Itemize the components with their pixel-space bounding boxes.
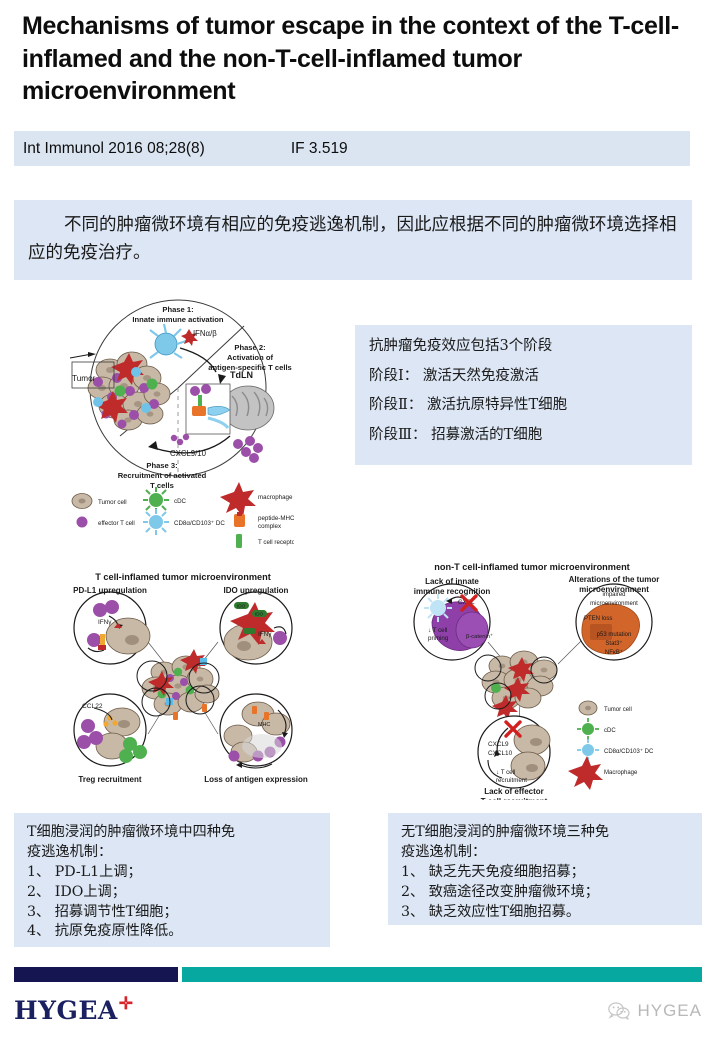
fig-bl-title: T cell-inflamed tumor microenvironment <box>95 572 271 582</box>
wechat-icon <box>608 1002 630 1020</box>
mech-right-line-1: 无T细胞浸润的肿瘤微环境三种免 <box>388 813 702 843</box>
tumor-mass: Tumor <box>70 352 170 430</box>
page-title: Mechanisms of tumor escape in the contex… <box>22 10 698 108</box>
br-legend-cdc: cDC <box>604 728 616 734</box>
phase1-line2: Innate immune activation <box>132 315 224 324</box>
phases-heading: 抗肿瘤免疫效应包括3个阶段 <box>355 325 692 354</box>
antigen-loss-bubble: MHC Loss of antigen expression <box>204 694 308 784</box>
legend-tumor-cell: Tumor cell <box>98 499 127 506</box>
lack-effector-bubble: CXCL9 CXCL10 ↓ T cell recruitment Lack o… <box>478 716 550 800</box>
br-legend-cd8a: CD8α/CD103⁺ DC <box>604 748 654 755</box>
figure-top-legend: Tumor cell effector T cell cDC CD8α/CD10… <box>72 482 294 548</box>
t-recruit-2: recruitment <box>496 777 527 784</box>
pdl1-label: PD-L1 upregulation <box>73 586 147 595</box>
activated-dc: IFNα/β <box>150 324 217 358</box>
central-tumor-mass-br <box>475 651 557 720</box>
catenin-label: β-catenin⁺ <box>466 633 493 640</box>
lack-effector-2: T cell recruitment <box>481 797 548 800</box>
phase2-line1: Phase 2: <box>234 343 265 352</box>
figure-br-legend: Tumor cell cDC CD8α/CD103⁺ DC Macrophage <box>568 701 654 790</box>
phase-item-1: 阶段Ⅰ： 激活天然免疫激活 <box>355 369 692 384</box>
cxcl9-label: CXCL9 <box>488 741 509 748</box>
mech-left-line-4: 2、 IDO上调； <box>14 883 330 903</box>
alterations-2: microenvironment <box>579 585 649 594</box>
ido-tag-1: IDO <box>237 604 246 609</box>
cxcl10-label: CXCL10 <box>488 750 513 757</box>
lack-innate-2: immune recognition <box>414 587 491 596</box>
ido-label: IDO upregulation <box>224 586 289 595</box>
mech-right-line-3: 1、 缺乏先天免疫细胞招募； <box>388 863 702 883</box>
treg-label: Treg recruitment <box>78 775 141 784</box>
phase-item-3: 阶段Ⅲ： 招募激活的T细胞 <box>355 428 692 443</box>
primed-t-cells <box>233 436 263 463</box>
ido-bubble: IDO IDO IFNγ IDO upregulation <box>220 586 292 664</box>
phase2-line2: Activation of <box>227 353 273 362</box>
br-legend-tumor: Tumor cell <box>604 707 632 713</box>
figure-non-t-cell-inflamed: non-T cell-inflamed tumor microenvironme… <box>392 556 688 800</box>
impact-factor: IF 3.519 <box>291 140 348 158</box>
p53-label: p53 mutation <box>597 632 632 638</box>
mech-left-line-6: 4、 抗原免疫原性降低。 <box>14 922 330 942</box>
legend-cd8a-dc: CD8α/CD103⁺ DC <box>174 520 225 527</box>
br-legend-macrophage: Macrophage <box>604 770 638 776</box>
figure-t-cell-inflamed: T cell-inflamed tumor microenvironment <box>52 566 314 790</box>
mech-left-line-2: 疫逃逸机制： <box>14 843 330 863</box>
phase2-line3: antigen-specific T cells <box>208 363 292 372</box>
ido-tag-2: IDO <box>255 612 264 617</box>
wechat-name: HYGEA <box>637 1001 702 1021</box>
impaired-2: microenvironment <box>590 601 638 607</box>
legend-peptide-mhc-2: complex <box>258 523 282 530</box>
phase3-line3: T cells <box>150 481 174 490</box>
lack-innate-1: Lack of innate <box>425 577 479 586</box>
footer-bar-teal <box>182 967 702 982</box>
mechanisms-left-box: T细胞浸润的肿瘤微环境中四种免 疫逃逸机制： 1、 PD-L1上调； 2、 ID… <box>14 813 330 947</box>
slide-root: Mechanisms of tumor escape in the contex… <box>0 0 720 1040</box>
ifn-label: IFNα/β <box>193 329 217 338</box>
tumor-label: Tumor <box>72 374 96 383</box>
mechanisms-right-box: 无T细胞浸润的肿瘤微环境三种免 疫逃逸机制： 1、 缺乏先天免疫细胞招募； 2、… <box>388 813 702 925</box>
phase3-line1: Phase 3: <box>146 461 177 470</box>
cxcl-dots <box>171 434 189 445</box>
summary-box: 不同的肿瘤微环境有相应的免疫逃逸机制，因此应根据不同的肿瘤微环境选择相应的免疫治… <box>14 200 692 280</box>
mech-left-line-3: 1、 PD-L1上调； <box>14 863 330 883</box>
summary-line-1: 不同的肿瘤微环境有相应的免疫逃逸机制，因此应根据不 <box>64 215 502 235</box>
mech-right-line-2: 疫逃逸机制： <box>388 843 702 863</box>
hygea-logo: HYGEA✛ <box>14 996 133 1025</box>
alterations-1: Alterations of the tumor <box>569 575 660 584</box>
phases-box: 抗肿瘤免疫效应包括3个阶段 阶段Ⅰ： 激活天然免疫激活 阶段Ⅱ： 激活抗原特异性… <box>355 325 692 465</box>
t-priming-1: ↓ T cell <box>428 627 447 634</box>
legend-cdc: cDC <box>174 498 187 505</box>
pten-label: PTEN loss <box>584 616 612 622</box>
t-priming-2: priming <box>428 635 449 642</box>
summary-text: 不同的肿瘤微环境有相应的免疫逃逸机制，因此应根据不同的肿瘤微环境选择相应的免疫治… <box>14 200 692 268</box>
t-recruit-1: ↓ T cell <box>496 769 515 776</box>
mech-left-line-1: T细胞浸润的肿瘤微环境中四种免 <box>14 813 330 843</box>
treg-bubble: CCL22 Treg recruitment <box>74 694 147 784</box>
ccl22-label: CCL22 <box>82 703 103 710</box>
wechat-badge: HYGEA <box>608 1001 702 1021</box>
ifng-label-ido: IFNγ <box>258 631 272 638</box>
mech-right-line-5: 3、 缺乏效应性T细胞招募。 <box>388 903 702 923</box>
red-cross-icon: ✛ <box>119 994 134 1014</box>
lack-innate-bubble: CXCL ↓ T cell priming β-catenin⁺ Lack of… <box>414 577 493 660</box>
alterations-bubble: impaired microenvironment PTEN loss p53 … <box>569 575 660 660</box>
stat3-label: Stat3⁺ <box>605 640 622 647</box>
fig-br-title: non-T cell-inflamed tumor microenvironme… <box>434 562 630 572</box>
phase1-line1: Phase 1: <box>162 305 193 314</box>
central-tumor-mass <box>137 649 219 720</box>
legend-peptide-mhc-1: peptide-MHC <box>258 515 294 522</box>
legend-effector-t: effector T cell <box>98 520 135 527</box>
pdl1-bubble: IFNγ PD-L1 upregulation <box>73 586 150 664</box>
journal-bar: Int Immunol 2016 08;28(8) IF 3.519 <box>14 131 690 166</box>
figure-three-phases: Tumor IFNα/β <box>62 296 294 551</box>
mech-right-line-4: 2、 致癌途径改变肿瘤微环境； <box>388 883 702 903</box>
nfkb-label: NFκB⁺ <box>605 649 623 656</box>
hygea-logo-text: HYGEA <box>14 996 118 1025</box>
journal-citation: Int Immunol 2016 08;28(8) <box>23 140 205 158</box>
footer-bar-navy <box>14 967 178 982</box>
phase3-line2: Recruitment of activated <box>118 471 207 480</box>
phase-item-2: 阶段Ⅱ： 激活抗原特异性T细胞 <box>355 398 692 413</box>
ifng-label-pdl1: IFNγ <box>98 619 112 626</box>
cxcl-label: CXCL9/10 <box>170 449 207 458</box>
legend-macrophage: macrophage <box>258 494 293 501</box>
mech-left-line-5: 3、 招募调节性T细胞； <box>14 903 330 923</box>
mhc-label: MHC <box>258 722 270 728</box>
lack-effector-1: Lack of effector <box>484 787 544 796</box>
antigen-loss-label: Loss of antigen expression <box>204 775 308 784</box>
legend-tcr: T cell receptor <box>258 539 294 546</box>
